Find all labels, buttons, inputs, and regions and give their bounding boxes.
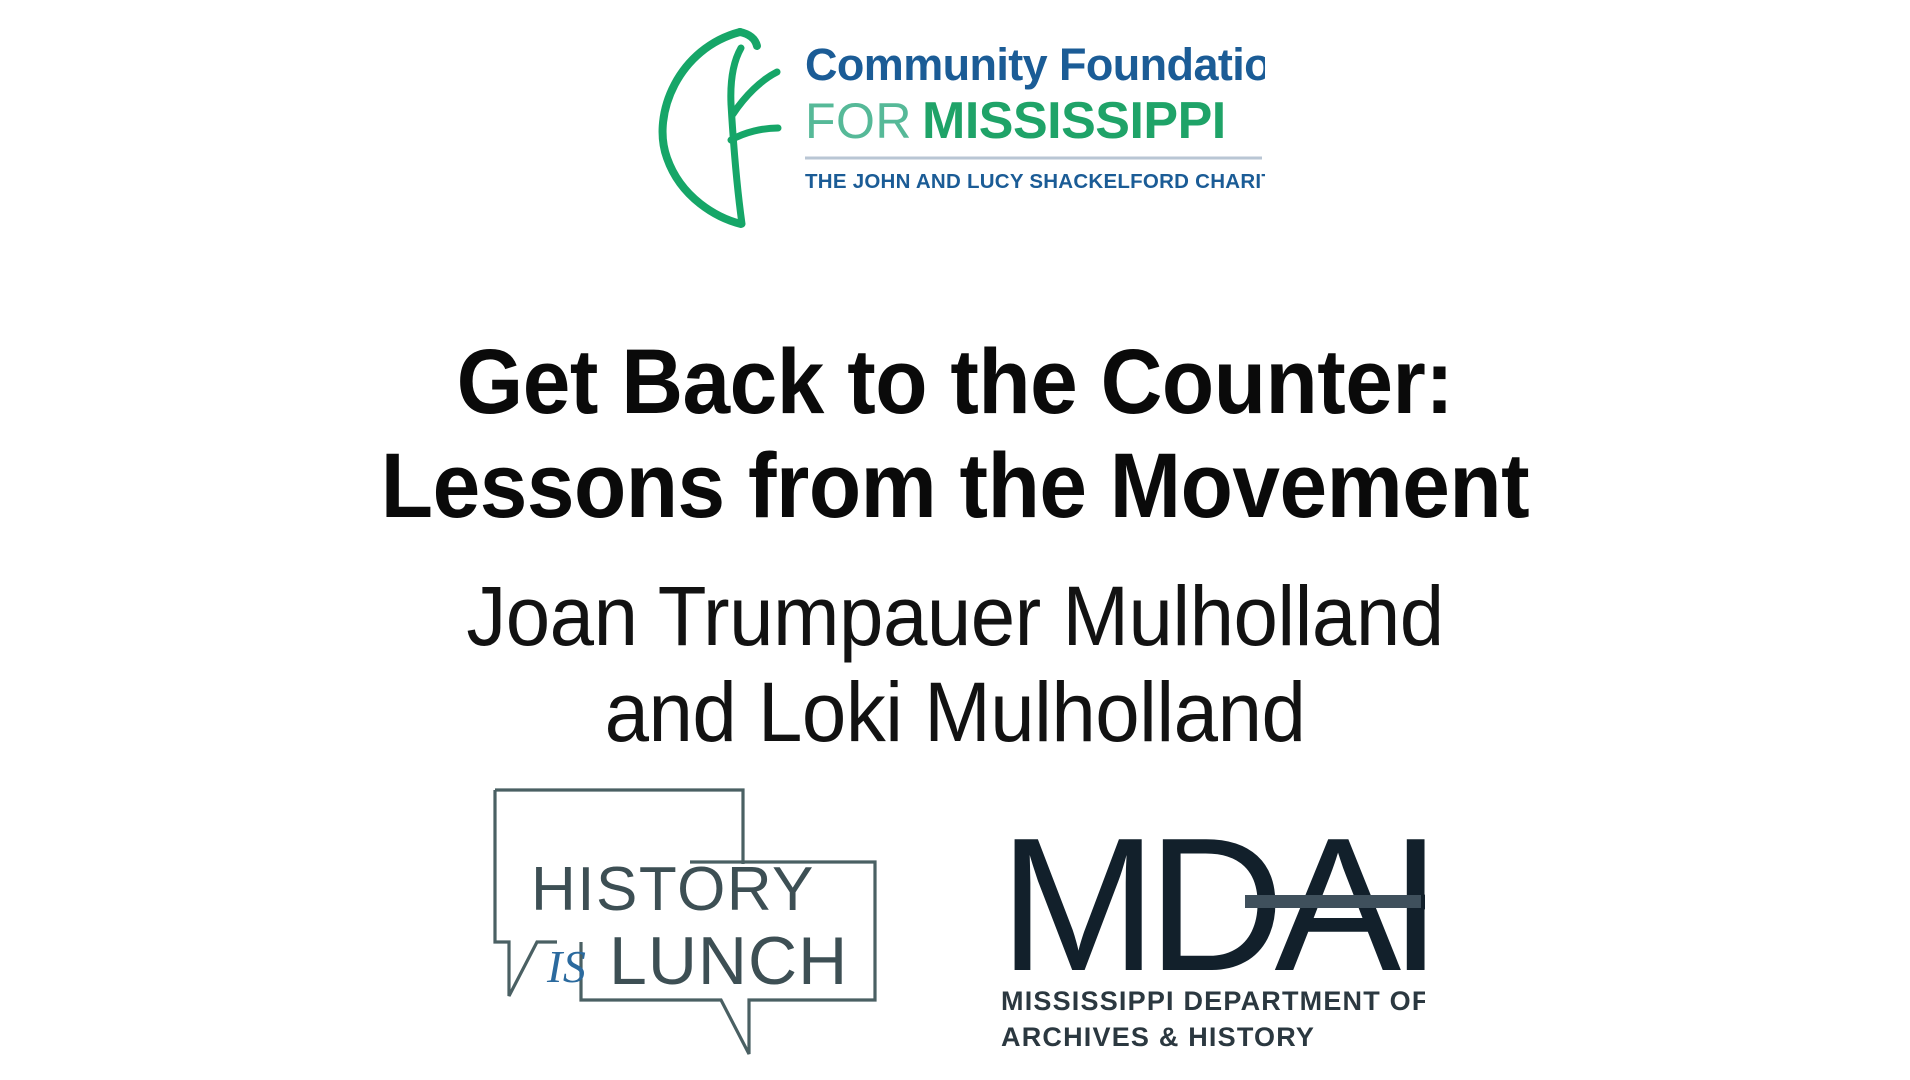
history-is-lunch-logo: HISTORY IS LUNCH — [485, 782, 885, 1072]
hil-lunch-text: LUNCH — [955, 782, 956, 783]
cfm-line2-mississippi: MISSISSIPPI — [922, 92, 1226, 150]
hil-word-is: IS — [546, 941, 586, 992]
cfm-tagline: THE JOHN AND LUCY SHACKELFORD CHARITABLE… — [805, 170, 1265, 193]
mdah-sub1-text: MISSISSIPPI DEPARTMENT OF — [955, 782, 956, 783]
mdah-sub2-text: ARCHIVES & HISTORY — [955, 782, 956, 783]
cfm-for-text: FOR — [955, 0, 956, 1]
leaf-icon — [663, 32, 778, 224]
cfm-line2-for: FOR — [805, 93, 912, 149]
community-foundation-logo: Community Foundation FOR MISSISSIPPI THE… — [645, 18, 1265, 230]
mdah-logo: MDAH MISSISSIPPI DEPARTMENT OF ARCHIVES … — [995, 812, 1425, 1072]
speaker-names: Joan Trumpauer Mulholland and Loki Mulho… — [0, 568, 1910, 760]
mdah-crossbar — [1245, 895, 1421, 908]
cfm-line1: Community Foundation — [805, 39, 1265, 90]
title-line-2: Lessons from the Movement — [67, 434, 1843, 538]
hil-is-text: IS — [955, 782, 956, 783]
speaker-line-1: Joan Trumpauer Mulholland — [48, 568, 1863, 664]
mdah-subtitle-line-1: MISSISSIPPI DEPARTMENT OF — [1001, 986, 1425, 1016]
mdah-acronym: MDAH — [999, 812, 1425, 1011]
title-line-1: Get Back to the Counter: — [67, 330, 1843, 434]
mdah-acronym-text: MDAH — [955, 782, 956, 783]
speaker-line-2: and Loki Mulholland — [48, 664, 1863, 760]
page-title: Get Back to the Counter: Lessons from th… — [0, 330, 1910, 538]
cfm-tagline-text: THE JOHN AND LUCY SHACKELFORD CHARITABLE… — [955, 0, 956, 1]
cfm-mississippi-text: MISSISSIPPI — [955, 0, 956, 1]
title-slide: Community Foundation FOR MISSISSIPPI THE… — [0, 0, 1910, 1080]
cfm-line1-text: Community Foundation — [955, 0, 956, 1]
hil-word-lunch: LUNCH — [609, 923, 848, 999]
mdah-subtitle-line-2: ARCHIVES & HISTORY — [1001, 1022, 1315, 1052]
footer-logo-row: HISTORY IS LUNCH HISTORY IS LUNCH MDAH M… — [0, 782, 1910, 1072]
hil-history-text: HISTORY — [955, 782, 956, 783]
hil-word-history: HISTORY — [531, 855, 815, 924]
